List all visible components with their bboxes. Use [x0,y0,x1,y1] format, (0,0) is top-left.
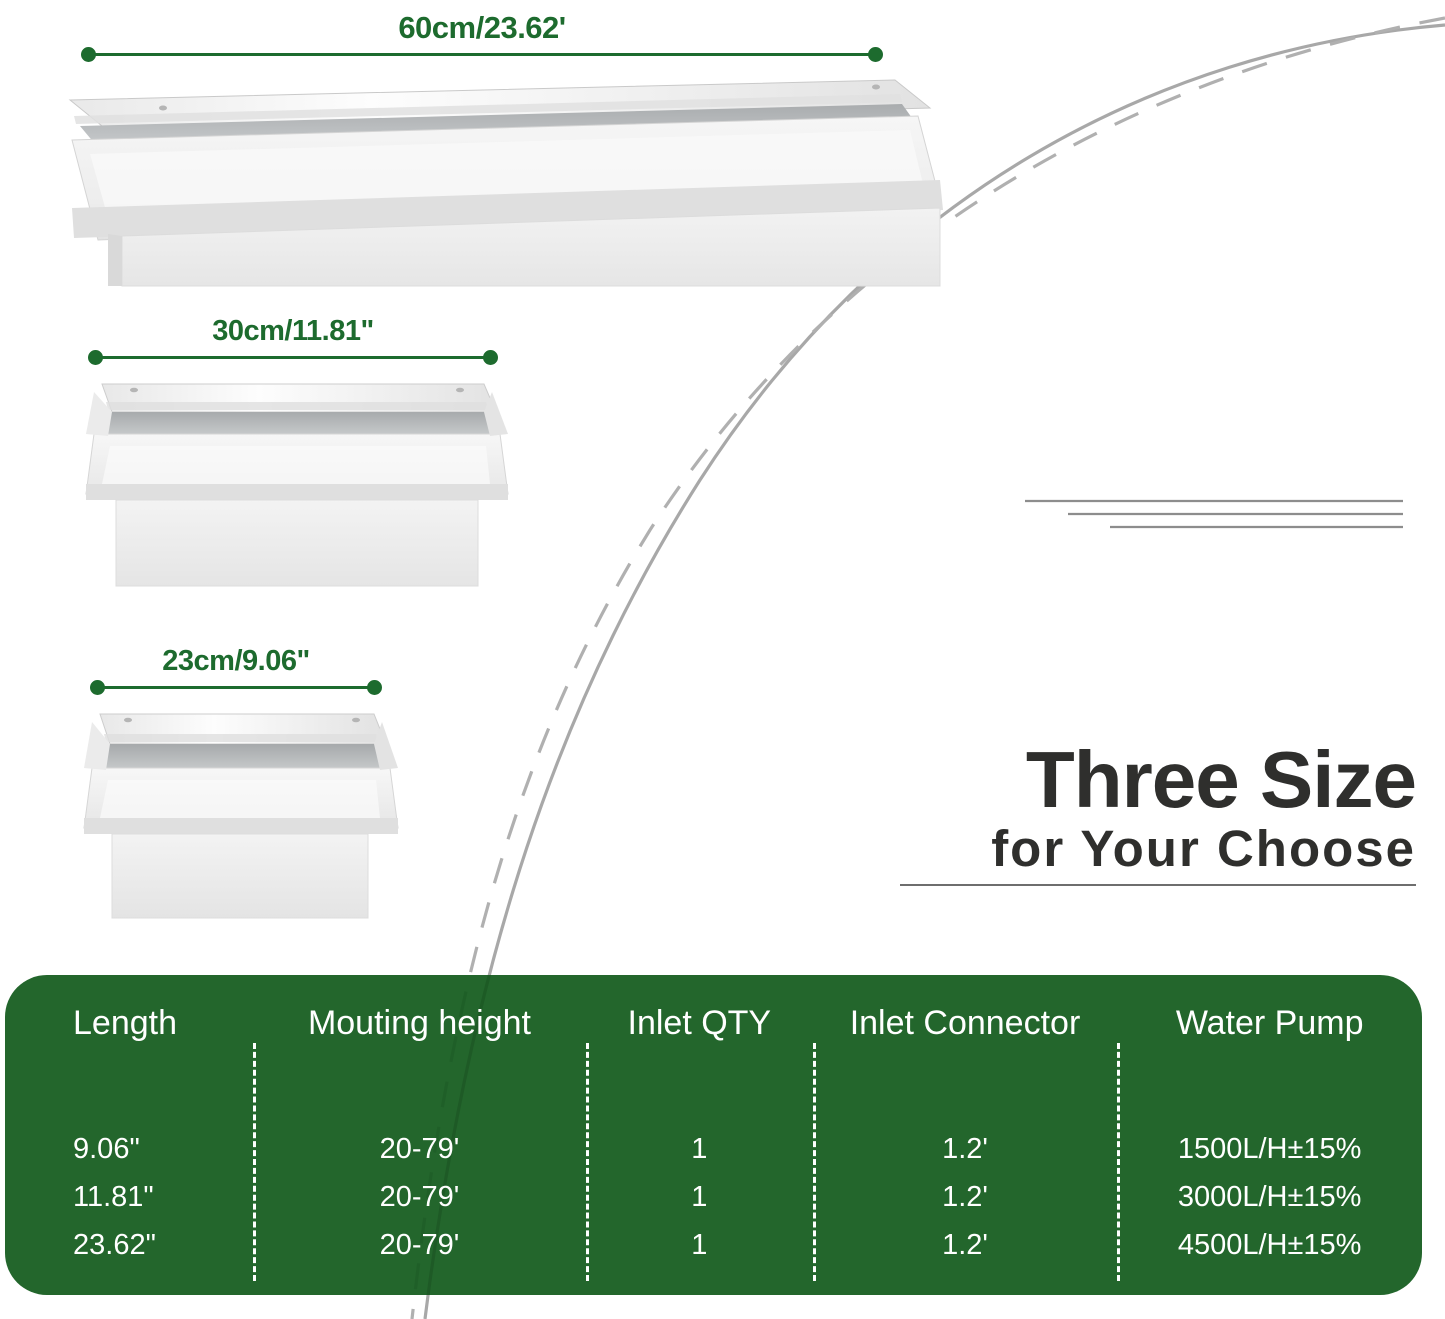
table-row: 23.62" 20-79' 1 1.2' 4500L/H±15% [5,1221,1422,1269]
dimension-endpoint-right [367,680,382,695]
cell-mounting-height: 20-79' [253,1125,586,1173]
cell-mounting-height: 20-79' [253,1173,586,1221]
infographic-page: 60cm/23.62' [0,0,1445,1319]
column-header-mounting-height: Mouting height [253,975,586,1077]
cell-inlet-connector: 1.2' [813,1173,1118,1221]
product-image-medium [72,372,512,590]
dimension-bar-small: 23cm/9.06" [90,645,382,707]
cell-length: 23.62" [5,1221,253,1269]
dimension-endpoint-right [483,350,498,365]
cell-water-pump: 1500L/H±15% [1117,1125,1422,1173]
product-image-small [72,702,402,920]
dimension-endpoint-right [868,47,883,62]
dimension-line [97,686,375,689]
spec-table-panel: Length Mouting height Inlet QTY Inlet Co… [5,975,1422,1295]
dimension-bar-medium: 30cm/11.81" [88,315,498,377]
cell-inlet-connector: 1.2' [813,1221,1118,1269]
spec-table: Length Mouting height Inlet QTY Inlet Co… [5,975,1422,1295]
headline-subtitle: for Your Choose [900,822,1416,876]
dimension-label-medium: 30cm/11.81" [88,315,498,348]
table-spacer [5,1269,1422,1295]
headline-title: Three Size [900,742,1416,818]
column-header-water-pump: Water Pump [1117,975,1422,1077]
dimension-line [95,356,491,359]
cell-length: 11.81" [5,1173,253,1221]
cell-length: 9.06" [5,1125,253,1173]
cell-inlet-qty: 1 [586,1125,813,1173]
table-header-row: Length Mouting height Inlet QTY Inlet Co… [5,975,1422,1077]
column-header-length: Length [5,975,253,1077]
cell-mounting-height: 20-79' [253,1221,586,1269]
table-row: 11.81" 20-79' 1 1.2' 3000L/H±15% [5,1173,1422,1221]
dimension-bar-large: 60cm/23.62' [81,10,883,76]
table-spacer [5,1077,1422,1125]
column-header-inlet-connector: Inlet Connector [813,975,1118,1077]
column-header-inlet-qty: Inlet QTY [586,975,813,1077]
headline-underline [900,884,1416,886]
dimension-label-large: 60cm/23.62' [81,10,883,46]
dimension-line [88,53,876,56]
product-image-large [50,58,955,288]
table-row: 9.06" 20-79' 1 1.2' 1500L/H±15% [5,1125,1422,1173]
cell-inlet-connector: 1.2' [813,1125,1118,1173]
headline-block: Three Size for Your Choose [900,742,1416,886]
cell-water-pump: 3000L/H±15% [1117,1173,1422,1221]
cell-water-pump: 4500L/H±15% [1117,1221,1422,1269]
cell-inlet-qty: 1 [586,1221,813,1269]
dimension-label-small: 23cm/9.06" [90,645,382,678]
cell-inlet-qty: 1 [586,1173,813,1221]
